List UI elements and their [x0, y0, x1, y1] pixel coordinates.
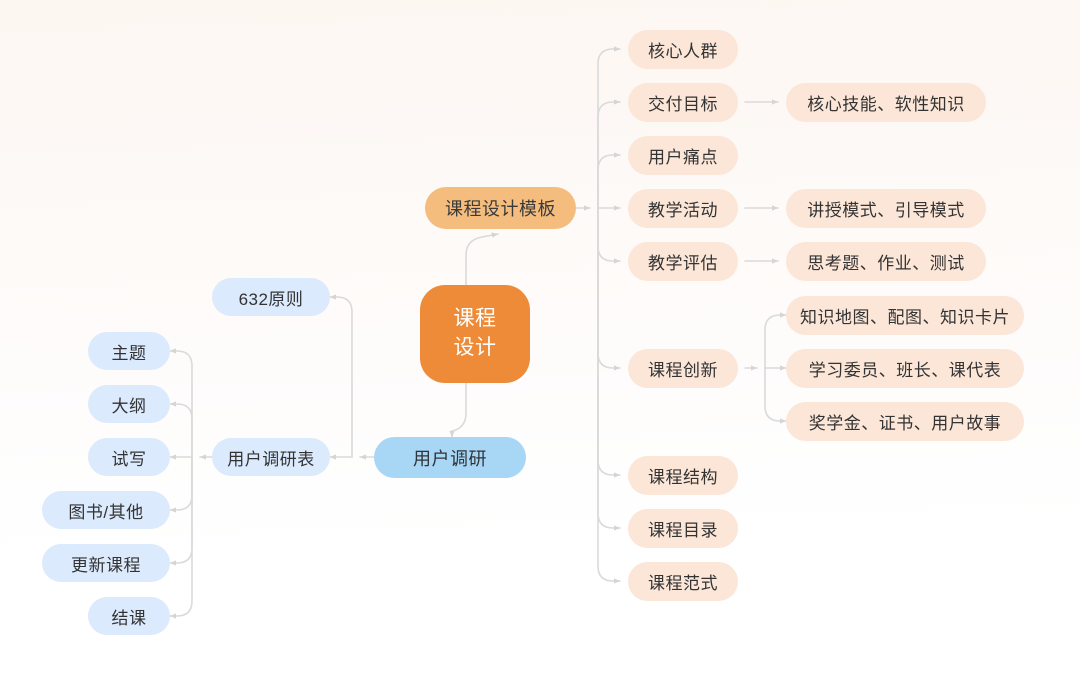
root-label-line1: 课程	[454, 305, 497, 334]
wire-survey-c5	[170, 457, 192, 563]
node-core-audience[interactable]: 核心人群	[628, 30, 738, 69]
wire-root-to-template	[466, 234, 498, 285]
node-label: 用户痛点	[648, 143, 718, 168]
node-user-research[interactable]: 用户调研	[374, 437, 526, 478]
node-survey-end-class[interactable]: 结课	[88, 597, 170, 635]
root-node[interactable]: 课程 设计	[420, 285, 530, 383]
wire-innovation-c1	[765, 315, 786, 368]
node-survey-update-course[interactable]: 更新课程	[42, 544, 170, 582]
wire-template-c8	[598, 208, 620, 528]
node-innovation-detail-1[interactable]: 知识地图、配图、知识卡片	[786, 296, 1024, 335]
node-teaching-assessment-detail[interactable]: 思考题、作业、测试	[786, 242, 986, 281]
node-delivery-goal-detail[interactable]: 核心技能、软性知识	[786, 83, 986, 122]
node-label: 课程设计模板	[445, 195, 556, 221]
node-course-innovation[interactable]: 课程创新	[628, 349, 738, 388]
node-label: 课程结构	[648, 463, 718, 488]
node-label: 用户调研	[413, 445, 487, 471]
wire-survey-c6	[170, 457, 192, 616]
node-label: 教学活动	[648, 196, 718, 221]
wire-template-c6	[598, 208, 620, 368]
wire-innovation-c3	[765, 368, 786, 421]
node-label: 课程创新	[648, 356, 718, 381]
wire-template-c7	[598, 208, 620, 475]
wire-template-c1	[598, 49, 620, 208]
node-label: 学习委员、班长、课代表	[809, 356, 1002, 381]
wire-survey-c1	[170, 351, 192, 457]
node-label: 思考题、作业、测试	[807, 249, 965, 274]
wire-template-c2	[598, 102, 620, 208]
node-label: 课程目录	[648, 516, 718, 541]
wire-survey-c2	[170, 404, 192, 457]
node-label: 结课	[112, 604, 147, 629]
wire-template-c5	[598, 208, 620, 261]
node-label: 奖学金、证书、用户故事	[809, 409, 1002, 434]
node-label: 主题	[112, 339, 147, 364]
node-label: 交付目标	[648, 90, 718, 115]
node-teaching-assessment[interactable]: 教学评估	[628, 242, 738, 281]
node-survey-outline[interactable]: 大纲	[88, 385, 170, 423]
wire-root-to-research	[452, 383, 466, 437]
node-label: 知识地图、配图、知识卡片	[800, 303, 1010, 328]
wire-survey-c4	[170, 457, 192, 510]
node-user-survey-form[interactable]: 用户调研表	[212, 438, 330, 476]
mindmap-canvas: 课程 设计 课程设计模板 核心人群 交付目标 用户痛点 教学活动 教学评估 课程…	[0, 0, 1080, 683]
node-course-design-template[interactable]: 课程设计模板	[425, 187, 576, 229]
node-label: 核心人群	[648, 37, 718, 62]
node-label: 讲授模式、引导模式	[807, 196, 965, 221]
node-user-painpoint[interactable]: 用户痛点	[628, 136, 738, 175]
node-delivery-goal[interactable]: 交付目标	[628, 83, 738, 122]
node-label: 大纲	[112, 392, 147, 417]
node-course-catalog[interactable]: 课程目录	[628, 509, 738, 548]
node-teaching-activity[interactable]: 教学活动	[628, 189, 738, 228]
node-course-structure[interactable]: 课程结构	[628, 456, 738, 495]
node-label: 课程范式	[648, 569, 718, 594]
node-label: 图书/其他	[68, 498, 143, 523]
node-survey-topic[interactable]: 主题	[88, 332, 170, 370]
wire-template-c9	[598, 208, 620, 581]
node-label: 用户调研表	[227, 445, 315, 470]
node-course-paradigm[interactable]: 课程范式	[628, 562, 738, 601]
node-survey-trial-writing[interactable]: 试写	[88, 438, 170, 476]
node-innovation-detail-3[interactable]: 奖学金、证书、用户故事	[786, 402, 1024, 441]
node-survey-books-other[interactable]: 图书/其他	[42, 491, 170, 529]
wire-research-to-632	[330, 297, 352, 457]
node-label: 核心技能、软性知识	[807, 90, 965, 115]
root-label-line2: 设计	[454, 334, 497, 363]
node-teaching-activity-detail[interactable]: 讲授模式、引导模式	[786, 189, 986, 228]
wire-template-c3	[598, 155, 620, 208]
node-632-principle[interactable]: 632原则	[212, 278, 330, 316]
node-label: 教学评估	[648, 249, 718, 274]
node-label: 更新课程	[71, 551, 141, 576]
node-label: 试写	[112, 445, 147, 470]
node-label: 632原则	[239, 285, 304, 310]
node-innovation-detail-2[interactable]: 学习委员、班长、课代表	[786, 349, 1024, 388]
